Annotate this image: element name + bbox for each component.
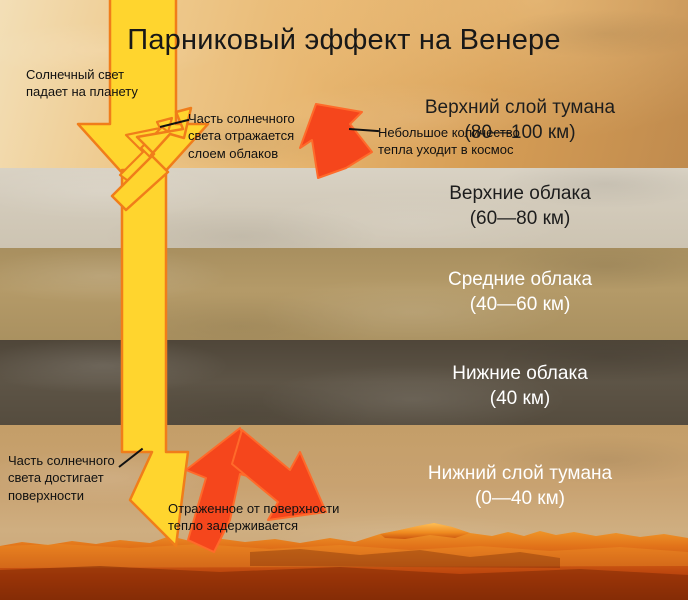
annotation-line: поверхности bbox=[8, 487, 158, 504]
layer-altitude-range: (40—60 км) bbox=[370, 292, 670, 317]
layer-label-clouds-lower: Нижние облака (40 км) bbox=[370, 361, 670, 411]
layer-name: Средние облака bbox=[370, 267, 670, 292]
annotation-reflected-by-clouds: Часть солнечного света отражается слоем … bbox=[188, 110, 338, 162]
layer-altitude-range: (60—80 км) bbox=[370, 206, 670, 231]
layer-name: Нижний слой тумана bbox=[370, 461, 670, 486]
layer-label-haze-bottom: Нижний слой тумана (0—40 км) bbox=[370, 461, 670, 511]
annotation-reaches-surface: Часть солнечного света достигает поверхн… bbox=[8, 452, 158, 504]
page-title: Парниковый эффект на Венере bbox=[0, 24, 688, 57]
layer-name: Верхний слой тумана bbox=[370, 95, 670, 120]
layer-altitude-range: (40 км) bbox=[370, 386, 670, 411]
annotation-line: Часть солнечного bbox=[8, 452, 158, 469]
venus-greenhouse-infographic: Парниковый эффект на Венере Верхний слой… bbox=[0, 0, 688, 600]
annotation-heat-escapes: Небольшое количество тепла уходит в косм… bbox=[378, 124, 548, 159]
annotation-line: тепло задерживается bbox=[168, 517, 358, 534]
layer-name: Нижние облака bbox=[370, 361, 670, 386]
annotation-line: падает на планету bbox=[26, 83, 196, 100]
annotation-line: света достигает bbox=[8, 469, 158, 486]
layer-label-clouds-upper: Верхние облака (60—80 км) bbox=[370, 181, 670, 231]
layer-name: Верхние облака bbox=[370, 181, 670, 206]
annotation-line: Небольшое количество bbox=[378, 124, 548, 141]
layer-altitude-range: (0—40 км) bbox=[370, 486, 670, 511]
layer-label-clouds-middle: Средние облака (40—60 км) bbox=[370, 267, 670, 317]
annotation-line: Солнечный свет bbox=[26, 66, 196, 83]
annotation-line: слоем облаков bbox=[188, 145, 338, 162]
annotation-line: света отражается bbox=[188, 127, 338, 144]
terrain-shadow-band bbox=[0, 566, 688, 600]
annotation-line: Часть солнечного bbox=[188, 110, 338, 127]
annotation-sunlight-incoming: Солнечный свет падает на планету bbox=[26, 66, 196, 101]
annotation-line: Отраженное от поверхности bbox=[168, 500, 358, 517]
annotation-trapped-heat: Отраженное от поверхности тепло задержив… bbox=[168, 500, 358, 535]
annotation-line: тепла уходит в космос bbox=[378, 141, 548, 158]
